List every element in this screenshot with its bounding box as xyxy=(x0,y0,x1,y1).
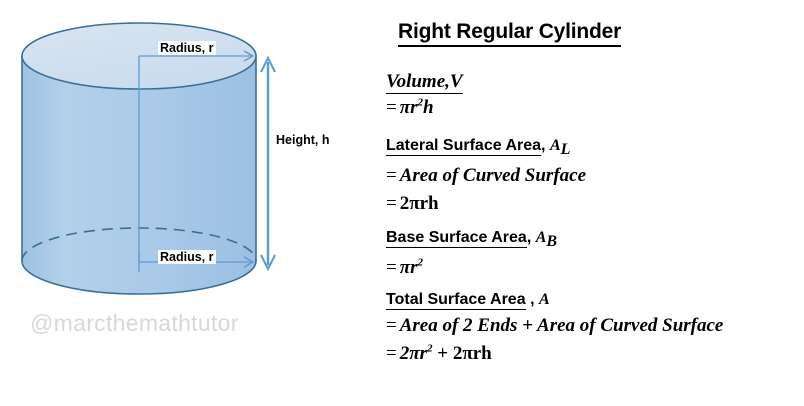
base-heading-subscript: B xyxy=(546,233,557,250)
radius-top-label: Radius, r xyxy=(158,41,216,55)
total-eq-sign-1: = xyxy=(386,315,400,336)
volume-heading: Volume,V xyxy=(386,72,463,92)
lateral-heading-symbol: A xyxy=(550,137,561,154)
lateral-heading-comma: , xyxy=(541,137,545,154)
volume-expr-h: h xyxy=(423,97,434,118)
total-equation-1-text: Area of 2 Ends + Area of Curved Surface xyxy=(400,315,724,336)
formula-block-volume: Volume,V =πr2h xyxy=(386,72,463,120)
lateral-equation-2: =2πrh xyxy=(386,191,586,216)
cylinder-formula-sheet: Radius, r Radius, r Height, h @marcthema… xyxy=(0,0,804,406)
total-equation-1: =Area of 2 Ends + Area of Curved Surface xyxy=(386,313,723,338)
total-heading: Total Surface Area , A xyxy=(386,290,723,310)
lateral-equation-1: =Area of Curved Surface xyxy=(386,163,586,188)
volume-expr-pi-r: πr xyxy=(400,97,418,118)
lateral-heading: Lateral Surface Area, AL xyxy=(386,136,586,160)
lateral-equation-2-text: 2πrh xyxy=(400,193,439,214)
total-expr-a: 2πr xyxy=(400,343,427,364)
volume-equation: =πr2h xyxy=(386,95,463,120)
base-heading-text: Base Surface Area xyxy=(386,229,527,248)
page-title: Right Regular Cylinder xyxy=(398,20,621,44)
base-eq-sign: = xyxy=(386,257,400,278)
lateral-heading-text: Lateral Surface Area xyxy=(386,137,541,156)
total-eq-sign-2: = xyxy=(386,343,400,364)
formula-block-total: Total Surface Area , A =Area of 2 Ends +… xyxy=(386,290,723,366)
lateral-eq-sign-1: = xyxy=(386,165,400,186)
cylinder-svg xyxy=(0,0,370,406)
watermark: @marcthemathtutor xyxy=(30,310,239,337)
total-heading-symbol: A xyxy=(539,291,550,308)
height-label: Height, h xyxy=(274,133,331,147)
base-equation: =πr2 xyxy=(386,255,557,280)
radius-bottom-label: Radius, r xyxy=(158,250,216,264)
formula-panel: Right Regular Cylinder Volume,V =πr2h La… xyxy=(378,0,804,406)
lateral-eq-sign-2: = xyxy=(386,193,400,214)
base-heading-symbol: A xyxy=(536,229,547,246)
total-expr-b: + 2πrh xyxy=(433,343,492,364)
lateral-equation-1-text: Area of Curved Surface xyxy=(400,165,586,186)
total-heading-text: Total Surface Area xyxy=(386,291,526,310)
volume-heading-text: Volume xyxy=(386,71,445,92)
formula-block-lateral: Lateral Surface Area, AL =Area of Curved… xyxy=(386,136,586,216)
page-title-text: Right Regular Cylinder xyxy=(398,20,621,47)
base-expr-pi-r: πr xyxy=(400,257,418,278)
base-heading: Base Surface Area, AB xyxy=(386,228,557,252)
total-equation-2: =2πr2 + 2πrh xyxy=(386,341,723,366)
volume-eq-sign: = xyxy=(386,97,400,118)
lateral-heading-subscript: L xyxy=(561,141,571,158)
formula-block-base: Base Surface Area, AB =πr2 xyxy=(386,228,557,280)
base-heading-comma: , xyxy=(527,229,531,246)
base-expr-exponent: 2 xyxy=(418,257,424,269)
volume-heading-symbol: V xyxy=(450,71,463,92)
cylinder-diagram: Radius, r Radius, r Height, h @marcthema… xyxy=(0,0,370,406)
total-heading-comma: , xyxy=(530,291,534,308)
